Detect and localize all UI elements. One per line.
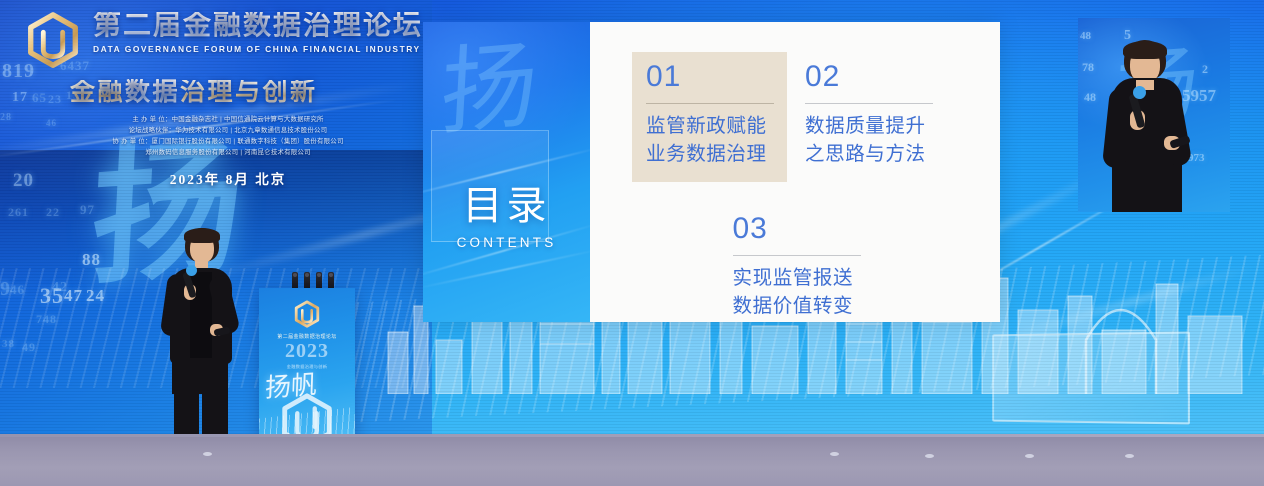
event-theme-cn: 金融数据治理与创新 — [70, 80, 422, 105]
floor-marker — [1125, 454, 1134, 458]
toc-label-line2: 业务数据治理 — [644, 141, 777, 169]
organizer-line: 主 办 单 位：中国金融杂志社 | 中国信通院云计算与大数据研究所 — [52, 114, 404, 125]
toc-label-line1: 数据质量提升 — [803, 113, 946, 141]
organizer-line: 郑州数码信息服务股份有限公司 | 河南昆仑技术有限公司 — [52, 147, 404, 158]
toc-label-line2: 数据价值转变 — [731, 293, 874, 321]
pip-number: 48 — [1080, 30, 1091, 42]
spot-light — [292, 272, 298, 289]
hexagon-logo-icon — [22, 11, 84, 73]
presentation-slide: 扬 目录 CONTENTS 01 监管新政赋能 业务数据治理 02 — [423, 22, 1000, 322]
podium-title: 第二届金融数据治理论坛 — [259, 333, 355, 340]
pip-number: 48 — [1084, 90, 1096, 105]
pip-microphone-head — [1133, 86, 1146, 99]
stage-speaker-figure — [148, 228, 268, 468]
slide-contents-panel: 扬 目录 CONTENTS — [423, 22, 590, 322]
floor-marker — [925, 454, 934, 458]
toc-divider — [733, 255, 861, 256]
microphone-head — [186, 265, 197, 276]
floor-marker — [1025, 454, 1034, 458]
toc-number: 01 — [644, 62, 777, 92]
pip-number: 5957 — [1182, 86, 1216, 106]
event-title-lockup: 第二届金融数据治理论坛 DATA GOVERNANCE FORUM OF CHI… — [22, 8, 422, 188]
event-title-cn: 第二届金融数据治理论坛 — [93, 12, 423, 41]
speaker-closeup-video: 扬 48 5 78 2 48 5957 973 — [1078, 18, 1230, 212]
toc-label-line1: 监管新政赋能 — [644, 113, 777, 141]
toc-number: 03 — [731, 214, 874, 244]
toc-row-top: 01 监管新政赋能 业务数据治理 02 数据质量提升 之思路与方法 — [644, 52, 946, 182]
spot-light — [304, 272, 310, 289]
theme-part-accent: 数据 — [125, 79, 180, 106]
floor-marker — [830, 452, 839, 456]
pip-number: 78 — [1082, 60, 1094, 75]
pip-number: 2 — [1202, 62, 1208, 77]
event-date-location: 2023年 8月 北京 — [52, 168, 404, 188]
conference-stage-photo: 819 6437 17 65 23 15 4 46 20 88 261 22 9… — [0, 0, 1264, 486]
toc-item-01[interactable]: 01 监管新政赋能 业务数据治理 — [632, 52, 787, 182]
organizer-line: 协 办 单 位：厦门国际银行股份有限公司 | 联通数字科技（集团）股份有限公司 — [52, 136, 404, 147]
podium-hexagon-logo-icon — [292, 300, 322, 330]
slide-toc-panel: 01 监管新政赋能 业务数据治理 02 数据质量提升 之思路与方法 03 实现监… — [590, 22, 1000, 322]
toc-divider — [805, 103, 933, 104]
spot-light — [316, 272, 322, 289]
slide-contents-title-cn: 目录 — [423, 186, 590, 226]
theme-part-a: 金融 — [70, 79, 125, 106]
speaker-hair-top — [184, 228, 220, 243]
floor-marker — [203, 452, 212, 456]
toc-item-02[interactable]: 02 数据质量提升 之思路与方法 — [803, 52, 946, 182]
podium-big-text: 2023 — [259, 341, 355, 361]
toc-divider — [646, 103, 774, 104]
toc-row-bottom: 03 实现监管报送 数据价值转变 — [590, 204, 1000, 322]
toc-label-line1: 实现监管报送 — [731, 265, 874, 293]
toc-item-03[interactable]: 03 实现监管报送 数据价值转变 — [731, 204, 874, 322]
slide-light-ray — [423, 248, 590, 289]
theme-part-b: 治理与创新 — [180, 79, 318, 106]
toc-label-line2: 之思路与方法 — [803, 141, 946, 169]
spot-light — [328, 272, 334, 289]
pip-speaker-hair-top — [1123, 41, 1167, 59]
stage-floor — [0, 434, 1264, 486]
pip-number: 5 — [1124, 28, 1131, 44]
stage-floor-edge — [0, 434, 1264, 437]
organizer-line: 论坛战略伙伴：华为技术有限公司 | 北京九章数通信息技术股份公司 — [52, 125, 404, 136]
organizer-credits: 主 办 单 位：中国金融杂志社 | 中国信通院云计算与大数据研究所 论坛战略伙伴… — [52, 114, 404, 158]
slide-contents-title-en: CONTENTS — [423, 235, 590, 250]
stage-spot-lights — [292, 272, 334, 289]
event-title-en: DATA GOVERNANCE FORUM OF CHINA FINANCIAL… — [93, 44, 423, 54]
toc-number: 02 — [803, 62, 946, 92]
slide-calligraphy-decor: 扬 — [438, 38, 540, 142]
